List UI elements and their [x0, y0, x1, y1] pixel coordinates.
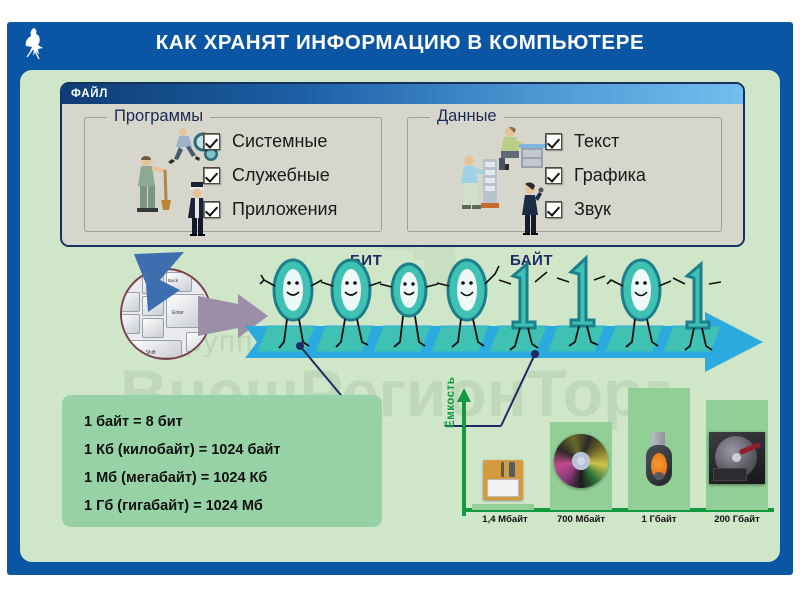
option-row[interactable]: Приложения: [203, 192, 337, 226]
file-window-titlebar: ФАЙЛ: [62, 84, 743, 104]
hard-disk-drive-icon: [709, 432, 765, 484]
group-programs: Программы: [84, 117, 382, 232]
chart-tick-label: 1 Гбайт: [620, 514, 698, 525]
checkbox-icon[interactable]: [545, 167, 562, 184]
option-label: Текст: [574, 131, 619, 152]
formula-line: 1 Кб (килобайт) = 1024 байт: [84, 436, 382, 464]
checkbox-icon[interactable]: [545, 201, 562, 218]
option-label: Графика: [574, 165, 646, 186]
content-panel: Группа компаний ВнешРегионТорг ФАЙЛ Прог…: [20, 70, 780, 562]
chart-plot-area: 1,4 Мбайт 700 Мбайт 1 Гбайт 200: [466, 388, 780, 510]
formula-line: 1 Гб (гигабайт) = 1024 Мб: [84, 492, 382, 520]
option-row[interactable]: Графика: [545, 158, 646, 192]
option-row[interactable]: Текст: [545, 124, 646, 158]
floppy-disk-icon: [483, 460, 523, 500]
clipart-person-shelf: [456, 153, 504, 216]
file-window: ФАЙЛ Программы: [60, 82, 745, 247]
group-data: Данные: [407, 117, 722, 232]
clipart-person-broom: [130, 154, 174, 219]
option-row[interactable]: Звук: [545, 192, 646, 226]
chart-bar: [472, 504, 534, 510]
checkbox-icon[interactable]: [203, 201, 220, 218]
chart-tick-label: 700 Мбайт: [542, 514, 620, 525]
cd-disc-icon: [554, 434, 608, 488]
checkbox-icon[interactable]: [203, 167, 220, 184]
option-row[interactable]: Служебные: [203, 158, 337, 192]
option-row[interactable]: Системные: [203, 124, 337, 158]
group-programs-legend: Программы: [107, 107, 210, 126]
page-title: КАК ХРАНЯТ ИНФОРМАЦИЮ В КОМПЬЮТЕРЕ: [7, 31, 793, 55]
programs-option-list: Системные Служебные Приложения: [203, 124, 337, 226]
poster-header: КАК ХРАНЯТ ИНФОРМАЦИЮ В КОМПЬЮТЕРЕ: [7, 22, 793, 69]
option-label: Звук: [574, 199, 611, 220]
checkbox-icon[interactable]: [203, 133, 220, 150]
file-window-body: Программы: [62, 104, 743, 245]
formula-line: 1 байт = 8 бит: [84, 408, 382, 436]
option-label: Служебные: [232, 165, 330, 186]
bit-byte-diagram: Enter ⇧ Shift Back: [20, 250, 780, 375]
formula-line: 1 Мб (мегабайт) = 1024 Кб: [84, 464, 382, 492]
usb-flash-drive-icon: [646, 432, 672, 486]
clipart-person-singer: [516, 181, 544, 240]
checkbox-icon[interactable]: [545, 133, 562, 150]
file-window-title: ФАЙЛ: [71, 88, 108, 100]
option-label: Системные: [232, 131, 327, 152]
capacity-chart: Ёмкость 1,4 Мбайт 700 Мба: [440, 388, 780, 538]
units-formula-box: 1 байт = 8 бит 1 Кб (килобайт) = 1024 ба…: [62, 395, 382, 527]
svg-text:⇧ Shift: ⇧ Shift: [140, 350, 156, 356]
poster: КАК ХРАНЯТ ИНФОРМАЦИЮ В КОМПЬЮТЕРЕ Групп…: [0, 0, 800, 600]
chart-tick-label: 1,4 Мбайт: [466, 514, 544, 525]
data-option-list: Текст Графика Звук: [545, 124, 646, 226]
blue-down-arrow-icon: [132, 250, 202, 330]
chart-tick-label: 200 Гбайт: [698, 514, 776, 525]
option-label: Приложения: [232, 199, 337, 220]
